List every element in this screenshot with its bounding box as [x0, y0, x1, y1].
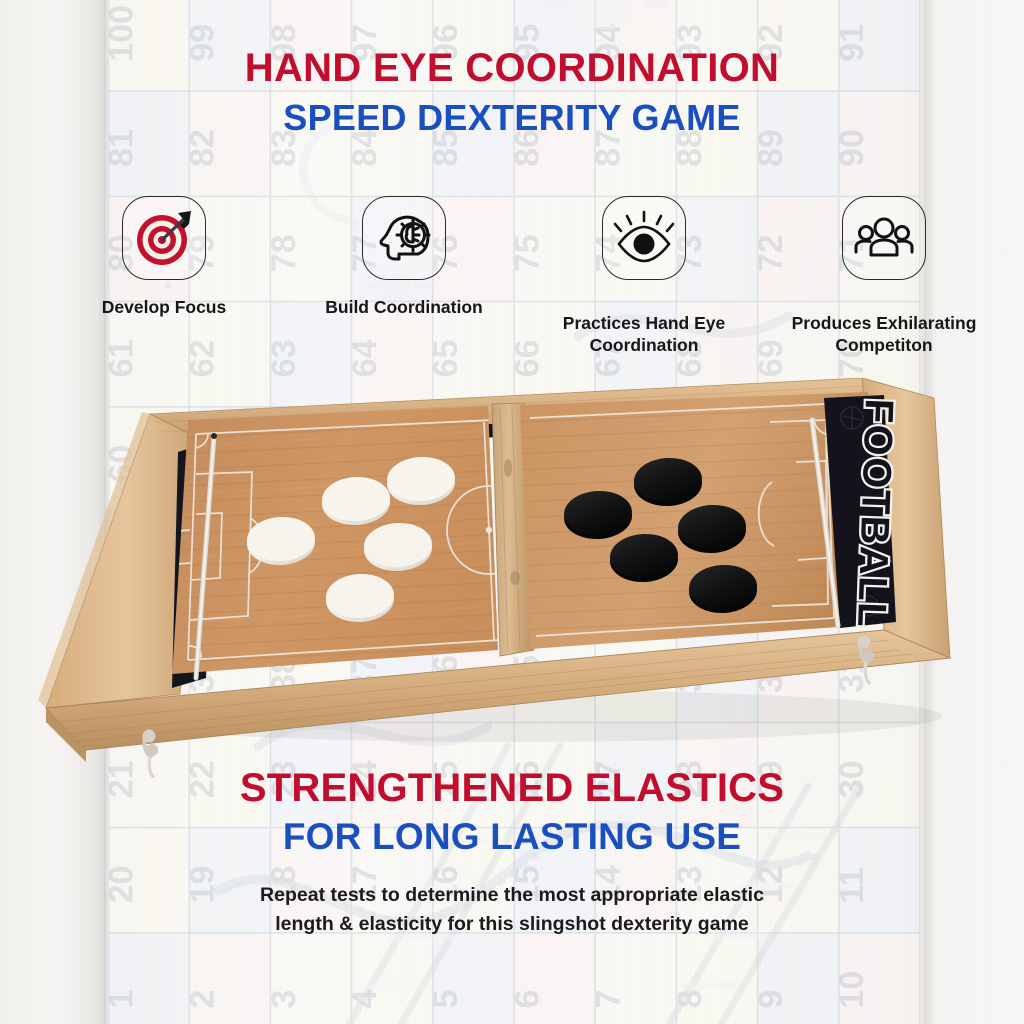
feature-label-line-2: Competiton [835, 335, 932, 355]
brain-head-icon [373, 207, 435, 269]
feature-icon-tile [122, 196, 206, 280]
bottom-headline-line-1: STRENGTHENED ELASTICS [0, 766, 1024, 811]
headline-block: HAND EYE COORDINATION SPEED DEXTERITY GA… [0, 46, 1024, 139]
bottom-subtext-line-2: length & elasticity for this slingshot d… [0, 910, 1024, 939]
svg-text:2: 2 [184, 990, 222, 1009]
feature-label: Build Coordination [325, 296, 482, 318]
feature-item-build-coordination: Build Coordination [284, 196, 524, 356]
feature-icon-tile [602, 196, 686, 280]
product-photo-slingshot-football-board: FOOTBALL [0, 378, 1024, 778]
bottom-subtext-line-1: Repeat tests to determine the most appro… [0, 881, 1024, 910]
svg-text:6: 6 [508, 990, 546, 1009]
feature-label-line-1: Produces Exhilarating [792, 313, 977, 333]
svg-text:3: 3 [265, 990, 303, 1009]
feature-icon-tile [362, 196, 446, 280]
feature-label: Produces Exhilarating Competiton [779, 312, 989, 356]
feature-item-exhilarating-competition: Produces Exhilarating Competiton [764, 196, 1004, 356]
feature-list: Develop Focus Build Coordination [44, 196, 1004, 356]
football-brand-text: FOOTBALL [849, 398, 901, 629]
svg-text:9: 9 [752, 990, 790, 1009]
feature-item-develop-focus: Develop Focus [44, 196, 284, 356]
eye-icon [613, 207, 675, 269]
bottom-headline-line-2: FOR LONG LASTING USE [0, 816, 1024, 859]
feature-label: Develop Focus [102, 296, 226, 318]
target-icon [133, 207, 195, 269]
product-feature-image: 1009998979695949392918182838485868788899… [0, 0, 1024, 1024]
svg-text:1: 1 [108, 990, 140, 1009]
headline-line-1: HAND EYE COORDINATION [0, 46, 1024, 91]
svg-text:7: 7 [590, 990, 628, 1009]
svg-text:10: 10 [833, 971, 871, 1009]
playfield-left [172, 404, 531, 678]
bottom-subtext: Repeat tests to determine the most appro… [0, 881, 1024, 939]
headline-line-2: SPEED DEXTERITY GAME [0, 97, 1024, 139]
svg-text:5: 5 [427, 990, 465, 1009]
feature-label: Practices Hand Eye Coordination [539, 312, 749, 356]
feature-item-hand-eye-coordination: Practices Hand Eye Coordination [524, 196, 764, 356]
feature-label-line-1: Practices Hand [563, 313, 689, 333]
people-group-icon [853, 207, 915, 269]
bottom-text-block: STRENGTHENED ELASTICS FOR LONG LASTING U… [0, 766, 1024, 938]
feature-icon-tile [842, 196, 926, 280]
